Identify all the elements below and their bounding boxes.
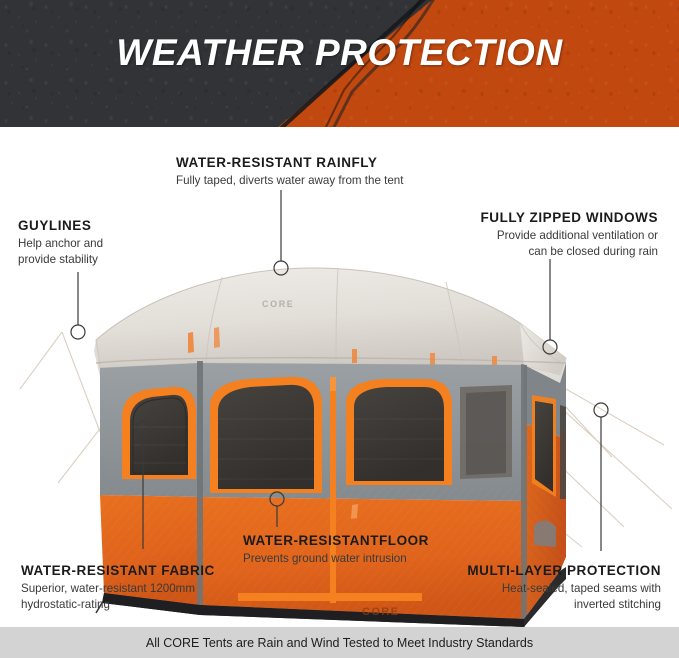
brand-logo-text: CORE [262, 299, 294, 309]
callout-fabric-title: WATER-RESISTANT FABRIC [21, 563, 215, 580]
callout-multilayer-line2: inverted stitching [467, 597, 661, 612]
callout-marker-guylines [71, 325, 85, 339]
callout-fabric-line2: hydrostatic-rating [21, 597, 215, 612]
brand-logo-body-text: CORE [362, 606, 399, 618]
callout-multilayer-line1: Heat-sealed, taped seams with [467, 581, 661, 596]
callout-rainfly-line1: Fully taped, diverts water away from the… [176, 173, 403, 188]
fabric-tab-front [351, 504, 358, 519]
vent-right [534, 520, 556, 547]
callout-windows: FULLY ZIPPED WINDOWS Provide additional … [480, 210, 658, 259]
header-banner: WEATHER PROTECTION [0, 0, 679, 127]
callout-guylines-line1: Help anchor and [18, 236, 103, 251]
footer-text: All CORE Tents are Rain and Wind Tested … [146, 636, 533, 650]
window-right [346, 379, 452, 485]
callout-guylines: GUYLINES Help anchor and provide stabili… [18, 218, 103, 267]
door-center-left [210, 377, 322, 493]
callout-floor-title: WATER-RESISTANTFLOOR [243, 533, 429, 550]
callout-floor-line1: Prevents ground water intrusion [243, 551, 429, 566]
brand-logo-rainfly: CORE [262, 299, 294, 309]
callout-marker-multilayer [594, 403, 608, 417]
callout-windows-title: FULLY ZIPPED WINDOWS [480, 210, 658, 227]
brand-logo-body: CORE [362, 606, 399, 618]
footer-bar: All CORE Tents are Rain and Wind Tested … [0, 627, 679, 658]
callout-fabric-line1: Superior, water-resistant 1200mm [21, 581, 215, 596]
callout-rainfly: WATER-RESISTANT RAINFLY Fully taped, div… [176, 155, 403, 188]
callout-rainfly-title: WATER-RESISTANT RAINFLY [176, 155, 403, 172]
callout-fabric: WATER-RESISTANT FABRIC Superior, water-r… [21, 563, 215, 612]
callout-multilayer-title: MULTI-LAYER PROTECTION [467, 563, 661, 580]
window-side-right-2 [560, 405, 566, 499]
callout-windows-line1: Provide additional ventilation or [480, 228, 658, 243]
window-left [122, 387, 196, 479]
callout-multilayer: MULTI-LAYER PROTECTION Heat-sealed, tape… [467, 563, 661, 612]
callout-floor: WATER-RESISTANTFLOOR Prevents ground wat… [243, 533, 429, 566]
page-title: WEATHER PROTECTION [0, 32, 679, 74]
infographic-page: WEATHER PROTECTION [0, 0, 679, 658]
callout-windows-line2: can be closed during rain [480, 244, 658, 259]
interior-glimpse [460, 385, 512, 479]
window-side-right [532, 395, 556, 497]
callout-guylines-title: GUYLINES [18, 218, 103, 235]
callout-guylines-line2: provide stability [18, 252, 103, 267]
